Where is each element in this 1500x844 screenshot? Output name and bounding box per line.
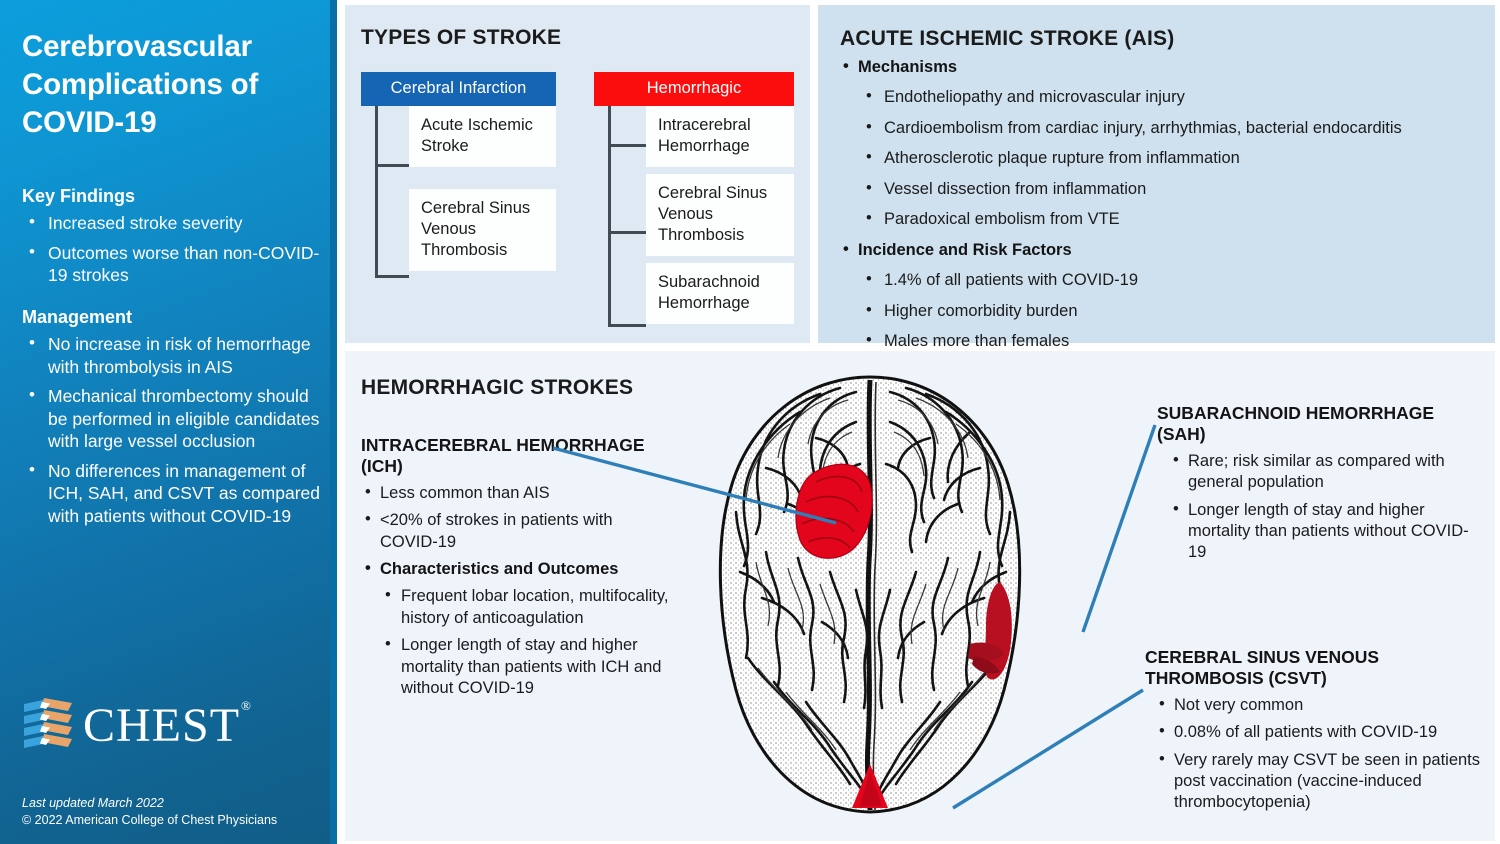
csvt-heading: CEREBRAL SINUS VENOUS THROMBOSIS (CSVT) xyxy=(1145,647,1485,690)
key-findings-heading: Key Findings xyxy=(22,186,322,207)
chest-logo-mark-icon xyxy=(22,696,78,754)
list-item: No increase in risk of hemorrhage with t… xyxy=(22,333,322,378)
infographic-root: Cerebrovascular Complications of COVID-1… xyxy=(0,0,1500,844)
tree-connector-vertical xyxy=(608,106,611,327)
types-panel-title: TYPES OF STROKE xyxy=(361,26,561,50)
tree-connector-branch xyxy=(608,144,646,147)
brain-superior-view-illustration xyxy=(670,372,1070,837)
tree-column-hemorrhagic: Hemorrhagic Intracerebral Hemorrhage Cer… xyxy=(594,72,794,328)
tree-connector-branch xyxy=(375,164,409,167)
acute-ischemic-stroke-panel: ACUTE ISCHEMIC STROKE (AIS) Mechanisms E… xyxy=(818,5,1495,343)
footer: Last updated March 2022 © 2022 American … xyxy=(22,795,322,830)
tree-node: Intracerebral Hemorrhage xyxy=(646,106,794,167)
footer-updated: Last updated March 2022 xyxy=(22,795,322,812)
key-findings-section: Key Findings Increased stroke severity O… xyxy=(22,186,322,294)
management-list: No increase in risk of hemorrhage with t… xyxy=(22,333,322,528)
ich-section: INTRACEREBRAL HEMORRHAGE (ICH) Less comm… xyxy=(361,435,673,706)
key-findings-list: Increased stroke severity Outcomes worse… xyxy=(22,212,322,287)
list-item: Frequent lobar location, multifocality, … xyxy=(381,586,673,629)
tree-connector-branch xyxy=(375,275,409,278)
chest-wordmark: CHEST® xyxy=(83,702,251,750)
list-item: Cardioembolism from cardiac injury, arrh… xyxy=(862,118,1485,139)
tree-header: Cerebral Infarction xyxy=(361,72,556,106)
list-item: Males more than females xyxy=(862,331,1485,352)
list-item: Longer length of stay and higher mortali… xyxy=(1169,500,1479,564)
ich-list: Less common than AIS <20% of strokes in … xyxy=(361,483,673,581)
page-title: Cerebrovascular Complications of COVID-1… xyxy=(22,28,322,141)
sidebar: Cerebrovascular Complications of COVID-1… xyxy=(0,0,330,844)
tree-node: Cerebral Sinus Venous Thrombosis xyxy=(646,174,794,256)
list-item: 0.08% of all patients with COVID-19 xyxy=(1155,722,1485,743)
sidebar-accent-edge xyxy=(330,0,337,844)
csvt-list: Not very common 0.08% of all patients wi… xyxy=(1155,695,1485,814)
ais-panel-title: ACUTE ISCHEMIC STROKE (AIS) xyxy=(840,27,1174,51)
ich-subheading: Characteristics and Outcomes xyxy=(361,559,673,580)
list-item: Outcomes worse than non-COVID-19 strokes xyxy=(22,242,322,287)
list-item: Less common than AIS xyxy=(361,483,673,504)
list-item: Longer length of stay and higher mortali… xyxy=(381,635,673,699)
ais-content: Mechanisms Endotheliopathy and microvasc… xyxy=(840,57,1485,352)
list-item: Increased stroke severity xyxy=(22,212,322,235)
sah-heading: SUBARACHNOID HEMORRHAGE (SAH) xyxy=(1157,403,1479,446)
ich-heading: INTRACEREBRAL HEMORRHAGE (ICH) xyxy=(361,435,673,478)
sah-section: SUBARACHNOID HEMORRHAGE (SAH) Rare; risk… xyxy=(1157,403,1479,570)
list-item: Endotheliopathy and microvascular injury xyxy=(862,87,1485,108)
management-heading: Management xyxy=(22,307,322,328)
csvt-section: CEREBRAL SINUS VENOUS THROMBOSIS (CSVT) … xyxy=(1145,647,1485,820)
list-item: Not very common xyxy=(1155,695,1485,716)
tree-connector-branch xyxy=(608,231,646,234)
list-item: Very rarely may CSVT be seen in patients… xyxy=(1155,750,1485,814)
ich-sublist: Frequent lobar location, multifocality, … xyxy=(381,586,673,699)
list-item: Mechanical thrombectomy should be perfor… xyxy=(22,385,322,453)
list-item: No differences in management of ICH, SAH… xyxy=(22,460,322,528)
tree-connector-branch xyxy=(608,324,646,327)
hemorrhagic-panel-title: HEMORRHAGIC STROKES xyxy=(361,376,633,400)
chest-logo: CHEST® xyxy=(22,696,251,754)
tree-header: Hemorrhagic xyxy=(594,72,794,106)
tree-children: Intracerebral Hemorrhage Cerebral Sinus … xyxy=(594,106,794,325)
types-of-stroke-panel: TYPES OF STROKE Cerebral Infarction Acut… xyxy=(345,5,810,343)
list-item: <20% of strokes in patients with COVID-1… xyxy=(361,510,673,553)
tree-connector-vertical xyxy=(375,106,378,278)
sah-list: Rare; risk similar as compared with gene… xyxy=(1169,451,1479,564)
tree-node: Acute Ischemic Stroke xyxy=(409,106,556,167)
footer-copyright: © 2022 American College of Chest Physici… xyxy=(22,812,322,829)
tree-node: Subarachnoid Hemorrhage xyxy=(646,263,794,324)
tree-node: Cerebral Sinus Venous Thrombosis xyxy=(409,189,556,271)
tree-column-cerebral-infarction: Cerebral Infarction Acute Ischemic Strok… xyxy=(361,72,556,275)
ais-group-label: Mechanisms xyxy=(840,57,1485,78)
management-section: Management No increase in risk of hemorr… xyxy=(22,307,322,535)
list-item: Atherosclerotic plaque rupture from infl… xyxy=(862,148,1485,169)
list-item: Higher comorbidity burden xyxy=(862,301,1485,322)
ais-group-label: Incidence and Risk Factors xyxy=(840,240,1485,261)
list-item: Vessel dissection from inflammation xyxy=(862,179,1485,200)
list-item: Rare; risk similar as compared with gene… xyxy=(1169,451,1479,494)
list-item: Paradoxical embolism from VTE xyxy=(862,209,1485,230)
list-item: 1.4% of all patients with COVID-19 xyxy=(862,270,1485,291)
tree-children: Acute Ischemic Stroke Cerebral Sinus Ven… xyxy=(361,106,556,272)
